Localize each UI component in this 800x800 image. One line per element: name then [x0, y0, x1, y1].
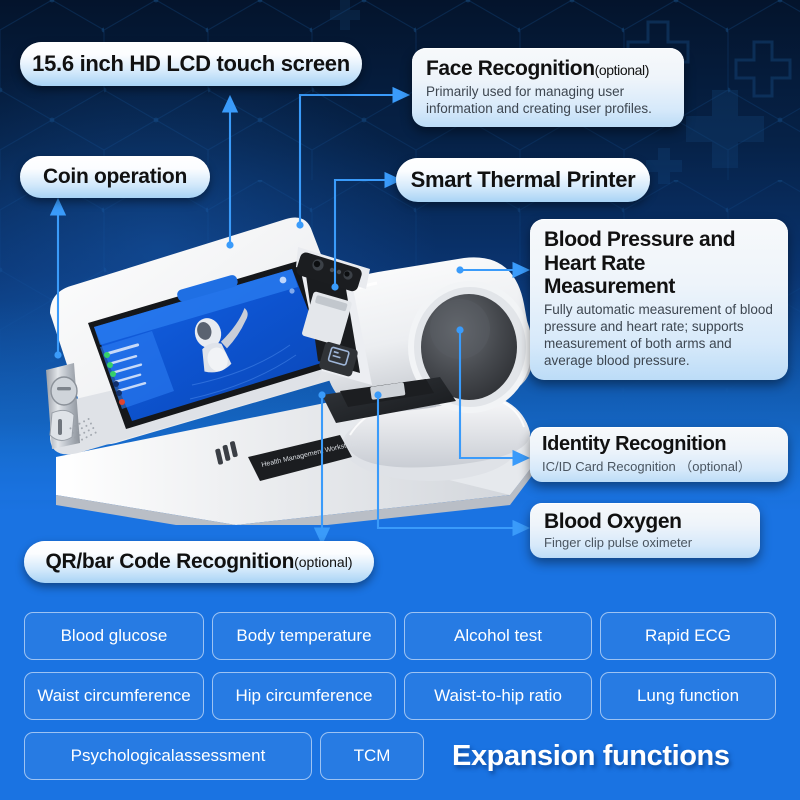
callout-identity-sub: IC/ID Card Recognition （optional） [542, 456, 776, 475]
chip-hip-circumference[interactable]: Hip circumference [212, 672, 396, 720]
callout-bp-title-line2: Heart Rate Measurement [544, 252, 774, 299]
callout-qr-optional: (optional) [294, 554, 352, 570]
callout-coin-label: Coin operation [43, 165, 187, 189]
connector-dot-qr [318, 391, 325, 398]
connector-dot-face [296, 221, 303, 228]
infographic-canvas: Health Management Workstation [0, 0, 800, 800]
callout-face[interactable]: Face Recognition(optional) Primarily use… [412, 48, 684, 127]
connector-dot-oxygen [374, 391, 381, 398]
callout-printer-label: Smart Thermal Printer [411, 167, 636, 193]
callout-identity-title: Identity Recognition [542, 433, 776, 455]
connector-dot-printer [331, 283, 338, 290]
callout-blood-oxygen[interactable]: Blood Oxygen Finger clip pulse oximeter [530, 503, 760, 558]
callout-blood-pressure[interactable]: Blood Pressure and Heart Rate Measuremen… [530, 219, 788, 380]
callout-oxygen-title: Blood Oxygen [544, 510, 746, 534]
chip-waist-circumference[interactable]: Waist circumference [24, 672, 204, 720]
chip-waist-to-hip-ratio[interactable]: Waist-to-hip ratio [404, 672, 592, 720]
connector-oxygen [378, 395, 528, 528]
chip-tcm[interactable]: TCM [320, 732, 424, 780]
connector-face [300, 95, 408, 225]
expansion-functions-title: Expansion functions [452, 740, 730, 773]
callout-lcd-label: 15.6 inch HD LCD touch screen [32, 51, 350, 77]
callout-qr[interactable]: QR/bar Code Recognition(optional) [24, 541, 374, 583]
chip-blood-glucose[interactable]: Blood glucose [24, 612, 204, 660]
callout-face-optional: (optional) [595, 62, 649, 78]
chip-lung-function[interactable]: Lung function [600, 672, 776, 720]
callout-face-title: Face Recognition(optional) [426, 57, 670, 81]
connector-printer [335, 180, 400, 287]
chip-rapid-ecg[interactable]: Rapid ECG [600, 612, 776, 660]
callout-qr-label: QR/bar Code Recognition [46, 550, 295, 574]
callout-printer[interactable]: Smart Thermal Printer [396, 158, 650, 202]
connector-dot-coin [54, 351, 61, 358]
callout-bp-desc: Fully automatic measurement of blood pre… [544, 301, 774, 370]
connector-dot-lcd [226, 241, 233, 248]
chip-body-temperature[interactable]: Body temperature [212, 612, 396, 660]
connector-dot-bp [456, 266, 463, 273]
callout-lcd[interactable]: 15.6 inch HD LCD touch screen [20, 42, 362, 86]
callout-face-desc: Primarily used for managing user informa… [426, 83, 670, 118]
connector-dot-identity [456, 326, 463, 333]
callout-coin[interactable]: Coin operation [20, 156, 210, 198]
callout-identity[interactable]: Identity Recognition IC/ID Card Recognit… [530, 427, 788, 482]
callout-bp-title-line1: Blood Pressure and [544, 228, 774, 252]
connector-identity [460, 330, 528, 458]
chip-alcohol-test[interactable]: Alcohol test [404, 612, 592, 660]
expansion-functions-section: Blood glucose Body temperature Alcohol t… [0, 600, 800, 800]
callout-oxygen-sub: Finger clip pulse oximeter [544, 535, 746, 550]
chip-psychological-assessment[interactable]: Psychologicalassessment [24, 732, 312, 780]
